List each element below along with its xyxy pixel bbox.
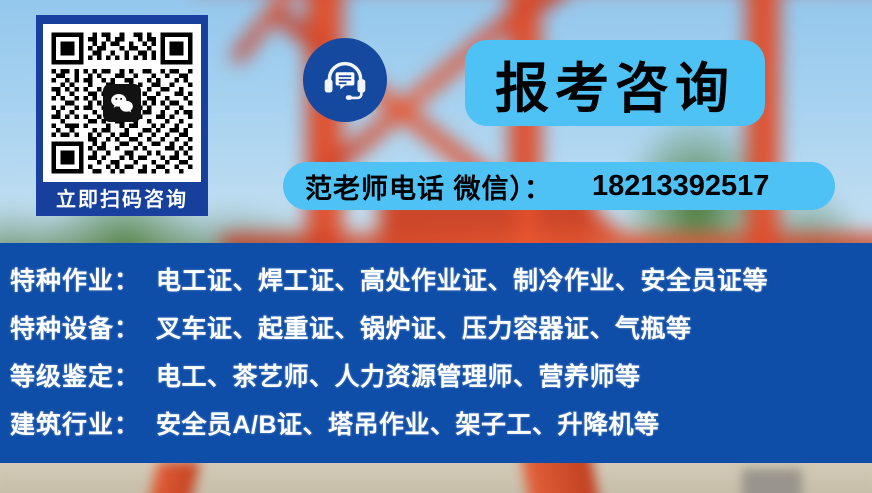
category-value: 叉车证、起重证、锅炉证、压力容器证、气瓶等 <box>156 309 692 345</box>
crane-member <box>533 0 776 13</box>
category-value: 安全员A/B证、塔吊作业、架子工、升降机等 <box>156 405 660 441</box>
contact-label: 范老师电话 微信）： <box>305 167 552 206</box>
category-label: 建筑行业： <box>10 405 156 441</box>
category-row-special-equipment: 特种设备： 叉车证、起重证、锅炉证、压力容器证、气瓶等 <box>0 309 872 357</box>
category-label: 特种设备： <box>10 309 156 345</box>
category-row-special-operations: 特种作业： 电工证、焊工证、高处作业证、制冷作业、安全员证等 <box>0 261 872 309</box>
bottom-photo-gray-object <box>742 469 802 493</box>
category-row-grade-appraisal: 等级鉴定： 电工、茶艺师、人力资源管理师、营养师等 <box>0 357 872 405</box>
category-value: 电工、茶艺师、人力资源管理师、营养师等 <box>156 357 641 393</box>
title-pill-label: 报考咨询 <box>495 44 735 123</box>
category-row-construction-industry: 建筑行业： 安全员A/B证、塔吊作业、架子工、升降机等 <box>0 405 872 453</box>
bottom-photo-blur <box>0 463 872 493</box>
certificate-categories-panel: 特种作业： 电工证、焊工证、高处作业证、制冷作业、安全员证等 特种设备： 叉车证… <box>0 243 872 468</box>
category-label: 特种作业： <box>10 261 156 297</box>
category-value: 电工证、焊工证、高处作业证、制冷作业、安全员证等 <box>156 261 768 297</box>
qr-code-card[interactable]: 立即扫码咨询 <box>36 15 208 216</box>
bottom-photo-strip <box>0 463 872 493</box>
wechat-icon <box>103 84 141 122</box>
title-pill[interactable]: 报考咨询 <box>465 40 765 126</box>
qr-caption: 立即扫码咨询 <box>45 182 199 218</box>
headset-support-icon <box>303 38 387 122</box>
category-label: 等级鉴定： <box>10 357 156 393</box>
contact-phone-number[interactable]: 18213392517 <box>592 170 769 203</box>
qr-code-image[interactable] <box>43 24 201 182</box>
promo-poster: 立即扫码咨询 报考咨询 范老师电话 微信）： 18213392517 特种作业：… <box>0 0 872 493</box>
contact-pill[interactable]: 范老师电话 微信）： 18213392517 <box>283 162 835 210</box>
